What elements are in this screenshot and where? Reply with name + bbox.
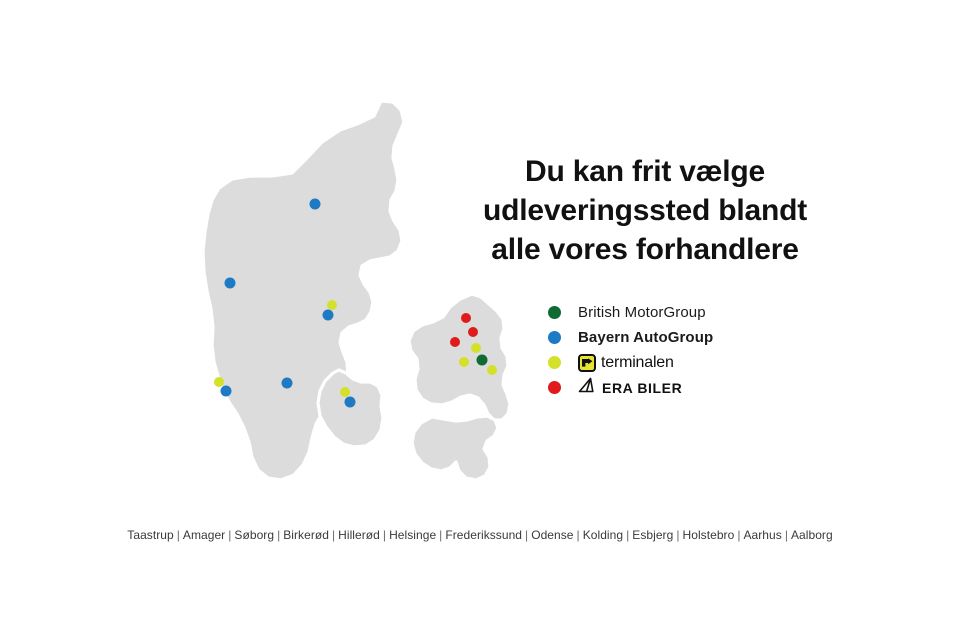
headline-line-2: udleveringssted blandt [455,191,835,230]
city-list: Taastrup|Amager|Søborg|Birkerød|Hillerød… [0,528,960,542]
map-dot-esbjerg-blue [221,386,232,397]
map-dot-aalborg [310,199,321,210]
headline-line-1: Du kan frit vælge [455,152,835,191]
map-dot-aarhus-blue [323,310,334,321]
legend-swatch-blue [548,331,561,344]
city-separator: | [274,528,283,542]
headline-line-3: alle vores forhandlere [455,230,835,269]
map-dot-hillerod [468,327,478,337]
city-name: Esbjerg [632,528,673,542]
city-name: Holstebro [683,528,735,542]
map-dot-holstebro [225,278,236,289]
city-name: Odense [531,528,573,542]
city-name: Kolding [583,528,623,542]
city-separator: | [782,528,791,542]
dealer-map-graphic: Du kan frit vælge udleveringssted blandt… [0,0,960,640]
terminalen-arrow-icon [578,354,596,372]
city-name: Amager [183,528,225,542]
legend-swatch-green [548,306,561,319]
legend-label-terminalen: terminalen [601,354,674,372]
map-dot-aarhus-lime [327,300,337,310]
map-dot-kolding [282,378,293,389]
terminalen-glyph [582,358,593,367]
map-dot-taastrup [459,357,469,367]
city-separator: | [623,528,632,542]
legend-item-era-biler: ERA BILER [548,375,848,400]
page-title: Du kan frit vælge udleveringssted blandt… [455,152,835,269]
map-dot-amager [487,365,497,375]
legend-swatch-lime [548,356,561,369]
legend-item-bayern-autogroup: Bayern AutoGroup [548,325,848,350]
map-dot-odense-lime [340,387,350,397]
map-dot-soborg [477,355,488,366]
city-name: Helsinge [389,528,436,542]
city-separator: | [574,528,583,542]
map-legend: British MotorGroup Bayern AutoGroup term… [548,300,848,400]
map-dot-frederikssund [450,337,460,347]
terminalen-logo: terminalen [578,354,674,372]
era-biler-triangle-icon [578,377,597,399]
legend-swatch-red [548,381,561,394]
city-separator: | [329,528,338,542]
city-name: Taastrup [127,528,173,542]
city-name: Aalborg [791,528,833,542]
city-name: Aarhus [743,528,781,542]
landmass-funen [318,370,383,447]
legend-item-british-motorgroup: British MotorGroup [548,300,848,325]
city-separator: | [174,528,183,542]
legend-label-bayern-autogroup: Bayern AutoGroup [578,329,713,346]
city-separator: | [380,528,389,542]
landmass-zealand [409,294,510,420]
era-biler-glyph [578,377,597,394]
legend-label-era-biler: ERA BILER [602,380,682,396]
landmass-lolland-falster [412,416,498,480]
city-name: Birkerød [283,528,329,542]
map-dot-odense-blue [345,397,356,408]
map-dot-helsinge [461,313,471,323]
city-separator: | [522,528,531,542]
city-name: Søborg [234,528,274,542]
map-dot-esbjerg-lime [214,377,224,387]
map-dot-birkerod [471,343,481,353]
city-name: Frederikssund [445,528,522,542]
era-biler-logo: ERA BILER [578,377,682,399]
legend-item-terminalen: terminalen [548,350,848,375]
city-separator: | [436,528,445,542]
legend-label-british-motorgroup: British MotorGroup [578,304,706,321]
city-name: Hillerød [338,528,380,542]
city-separator: | [673,528,682,542]
